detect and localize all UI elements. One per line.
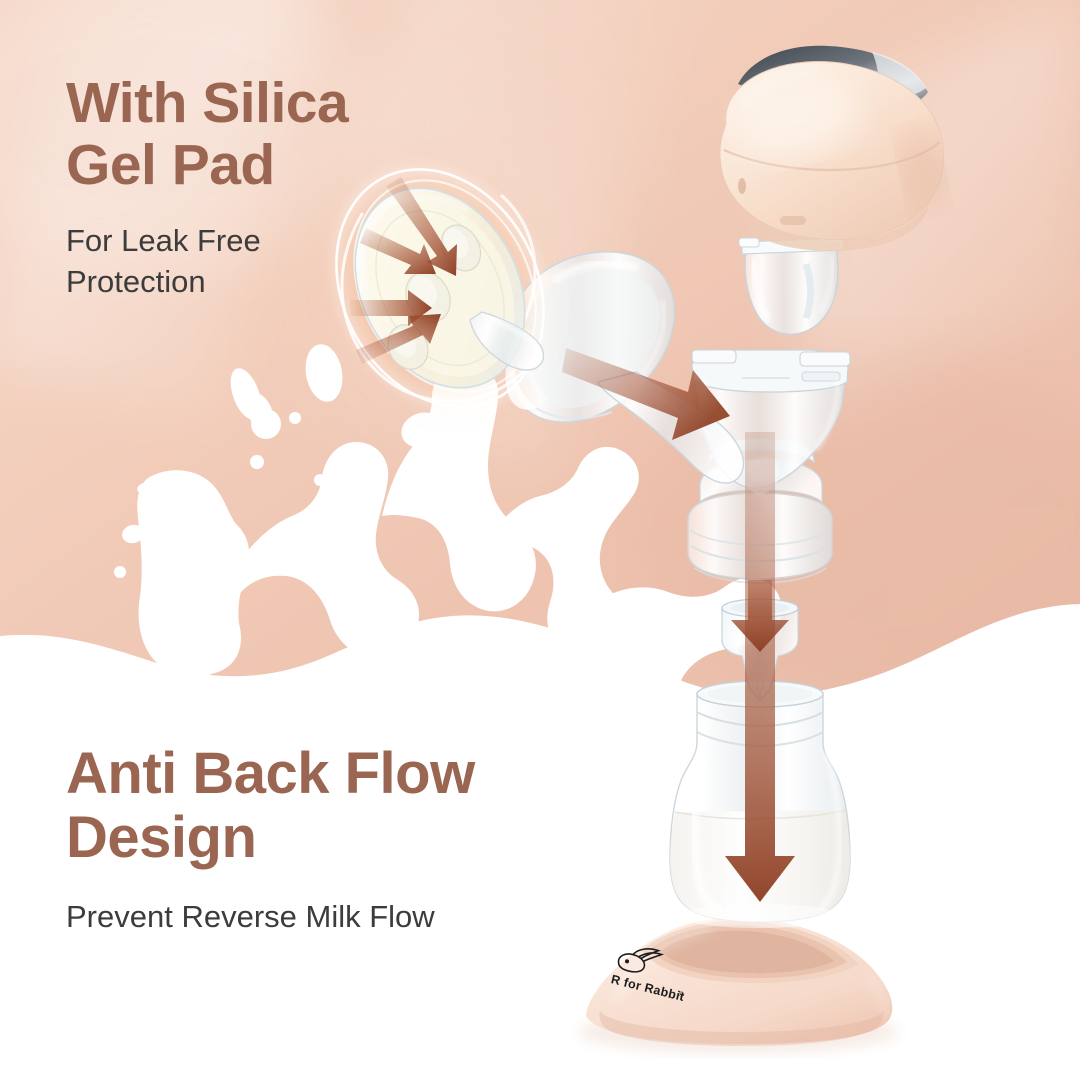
- feature-2-title: Anti Back Flow Design: [66, 742, 475, 870]
- feature-2-subtitle: Prevent Reverse Milk Flow: [66, 896, 475, 937]
- infographic-canvas: R for Rabbit ®: [0, 0, 1080, 1080]
- feature-anti-back-flow-text: Anti Back Flow Design Prevent Reverse Mi…: [66, 742, 475, 937]
- feature-1-subtitle: For Leak Free Protection: [66, 220, 348, 302]
- feature-1-title: With Silica Gel Pad: [66, 72, 348, 196]
- connector-to-bottle-arrow: [725, 432, 795, 902]
- feature-silica-gel-pad-text: With Silica Gel Pad For Leak Free Protec…: [66, 72, 348, 302]
- flange-to-connector-arrow: [562, 348, 730, 440]
- pad-arrow-4: [356, 314, 441, 364]
- valve-flow-arrow: [731, 580, 789, 652]
